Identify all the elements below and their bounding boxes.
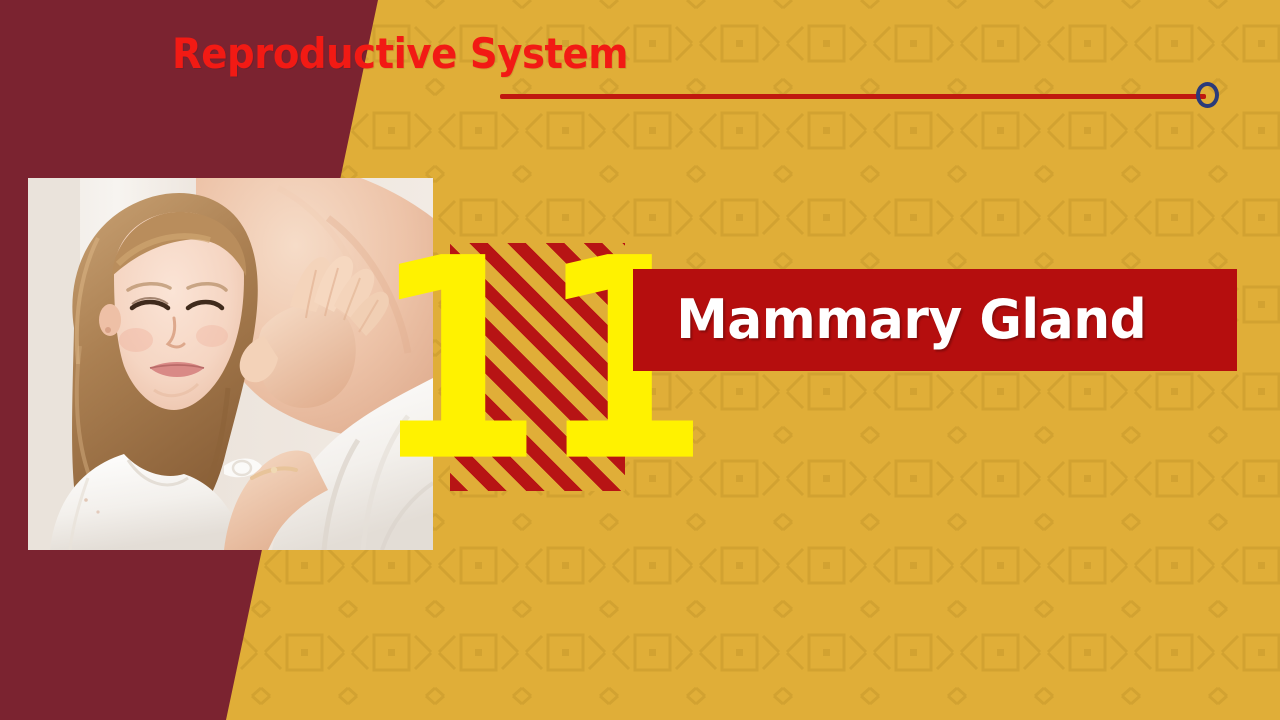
page-title: Reproductive System	[172, 28, 628, 80]
ring-icon	[1196, 82, 1219, 108]
section-number-badge: 11	[450, 243, 625, 491]
section-number: 11	[450, 228, 625, 506]
section-heading: Mammary Gland	[633, 290, 1146, 350]
title-underline-rule	[500, 94, 1206, 99]
section-heading-banner: Mammary Gland	[633, 269, 1237, 371]
slide-canvas: Reproductive System	[0, 0, 1280, 720]
